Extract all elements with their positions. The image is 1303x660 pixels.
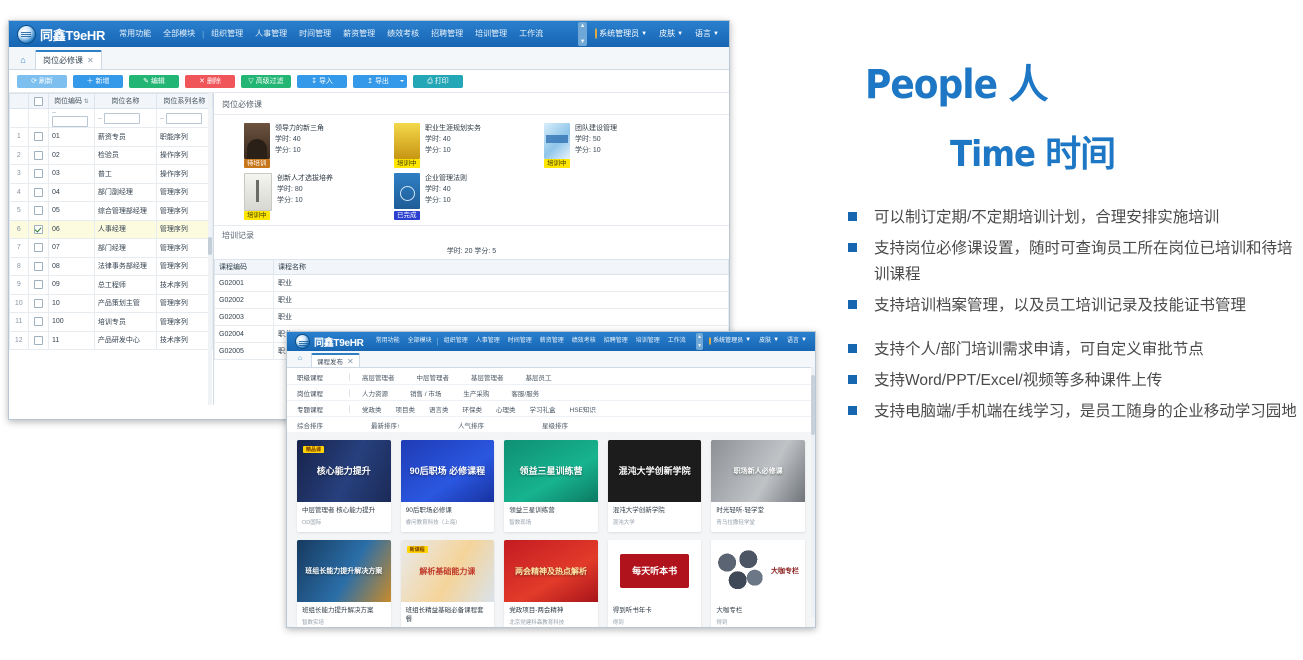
arrow-up-icon: ↑ bbox=[397, 424, 400, 430]
list-item: 支持Word/PPT/Excel/视频等多种课件上传 bbox=[848, 368, 1303, 394]
records-row[interactable]: G02002职业 bbox=[215, 292, 729, 309]
refresh-label: 刷新 bbox=[39, 78, 53, 85]
records-row[interactable]: G02003职业 bbox=[215, 309, 729, 326]
cell-name: 普工 bbox=[94, 165, 156, 184]
course-row: 领导力的新三角 学时: 40 学分: 10 待培训 职业生涯规划实务 bbox=[244, 123, 729, 159]
status-badge: 培训中 bbox=[394, 159, 420, 168]
row-checkbox[interactable] bbox=[34, 151, 43, 160]
filter-cell-series: – bbox=[156, 109, 212, 128]
cell-series: 操作序列 bbox=[156, 165, 212, 184]
filter-input-name[interactable] bbox=[104, 113, 140, 124]
course-title: 职业生涯规划实务 bbox=[425, 123, 481, 134]
course-thumbnail: 新课程 解析基础能力课 bbox=[401, 540, 495, 602]
cell-name: 薪资专员 bbox=[94, 128, 156, 147]
course-hours: 学时: 40 bbox=[425, 184, 467, 195]
table-row[interactable]: 11100培训专员管理序列 bbox=[10, 313, 213, 332]
filter-row-gangwei: 岗位课程 人力资源 销售 / 市场 生产采购 客服/服务 bbox=[287, 385, 815, 401]
filter-cell-code: – bbox=[48, 109, 94, 128]
required-courses-title: 岗位必修课 bbox=[214, 93, 729, 115]
course-catalog-card[interactable]: 混沌大学创新学院 混沌大学创新学院 混沌大学 bbox=[608, 440, 702, 532]
filter-option[interactable]: HSE知识 bbox=[570, 404, 596, 414]
nav-item-3[interactable]: 人事管理 bbox=[472, 332, 504, 351]
thumbnail-text: 核心能力提升 bbox=[297, 440, 391, 502]
bullet-square-icon bbox=[848, 212, 857, 221]
thumbnail-text: 混沌大学创新学院 bbox=[608, 440, 702, 502]
table-row[interactable]: 404部门副经理管理序列 bbox=[10, 183, 213, 202]
cell-code: 100 bbox=[48, 313, 94, 332]
thumbnail-text: 领益三星训练营 bbox=[504, 440, 598, 502]
nav-item-6[interactable]: 绩效考核 bbox=[568, 332, 600, 351]
cell-code: 01 bbox=[48, 128, 94, 147]
brand-title: 同鑫T9eHR bbox=[314, 334, 364, 349]
course-org: 北京党建科森教育科技 bbox=[509, 618, 593, 626]
nav-item-6[interactable]: 绩效考核 bbox=[381, 21, 425, 47]
course-credits: 学分: 10 bbox=[575, 145, 617, 156]
course-title: 企业管理法则 bbox=[425, 173, 467, 184]
filter-label: 专题课程 bbox=[297, 404, 349, 414]
language-menu[interactable]: 语言▼ bbox=[689, 21, 725, 48]
table-row[interactable]: 303普工操作序列 bbox=[10, 165, 213, 184]
records-cell-code: G02001 bbox=[215, 275, 274, 292]
nav-item-8[interactable]: 培训管理 bbox=[632, 332, 664, 351]
import-icon: ↧ bbox=[311, 78, 317, 85]
table-row[interactable]: 808法律事务部经理管理序列 bbox=[10, 257, 213, 276]
sort-arrow-icon: ⇅ bbox=[82, 99, 89, 105]
nav-item-7[interactable]: 招聘管理 bbox=[600, 332, 632, 351]
course-catalog-card[interactable]: 职场新人必修课 时光轻听·轻学堂 青马拉撒轻学堂 bbox=[711, 440, 805, 532]
nav-menu: 常用功能 全部模块 | 组织管理 人事管理 时间管理 薪资管理 绩效考核 招聘管… bbox=[113, 21, 576, 47]
course-org: 得到 bbox=[716, 618, 800, 626]
skin-menu-label: 皮肤 bbox=[759, 338, 771, 344]
nav-item-1[interactable]: 全部模块 bbox=[157, 21, 201, 47]
sort-option-comprehensive[interactable]: 综合排序 bbox=[297, 420, 323, 430]
status-badge: 待培训 bbox=[244, 159, 270, 168]
cell-name: 综合管理部经理 bbox=[94, 202, 156, 221]
course-name: 时光轻听·轻学堂 bbox=[716, 506, 800, 515]
divider bbox=[349, 405, 350, 413]
records-cell-code: G02005 bbox=[215, 343, 274, 360]
course-card[interactable]: 职业生涯规划实务 学时: 40 学分: 10 培训中 bbox=[394, 123, 522, 159]
cell-series: 管理序列 bbox=[156, 294, 212, 313]
filter-icon: ▽ bbox=[248, 78, 253, 85]
course-name: 领益三星训练营 bbox=[509, 506, 593, 515]
records-cell-code: G02002 bbox=[215, 292, 274, 309]
tab-strip: ⌂ 岗位必修课 ✕ bbox=[9, 47, 729, 70]
slide-root: 同鑫T9eHR 常用功能 全部模块 | 组织管理 人事管理 时间管理 薪资管理 … bbox=[0, 0, 1303, 660]
sort-option-newest[interactable]: 最新排序↑ bbox=[371, 420, 400, 430]
training-records-stats: 学时: 20 学分: 5 bbox=[214, 244, 729, 259]
catalog-scrollbar[interactable] bbox=[811, 367, 815, 617]
nav-item-4[interactable]: 时间管理 bbox=[293, 21, 337, 47]
course-thumbnail: 班组长能力提升解决方案 bbox=[297, 540, 391, 602]
cell-series: 管理序列 bbox=[156, 220, 212, 239]
nav-item-9[interactable]: 工作流 bbox=[664, 332, 690, 351]
course-name: 90后职场必修课 bbox=[406, 506, 490, 515]
table-header-row: 岗位编码 ⇅ 岗位名称 岗位系列名称 bbox=[10, 94, 213, 109]
course-name: 得到听书年卡 bbox=[613, 606, 697, 615]
records-row[interactable]: G02001职业 bbox=[215, 275, 729, 292]
course-catalog-card[interactable]: 大咖专栏 大咖专栏 得到 bbox=[711, 540, 805, 628]
table-row[interactable]: 101薪资专员职能序列 bbox=[10, 128, 213, 147]
import-button[interactable]: ↧导入 bbox=[297, 75, 347, 88]
course-title: 团队建设管理 bbox=[575, 123, 617, 134]
bullet-square-icon bbox=[848, 375, 857, 384]
filter-spacer bbox=[10, 109, 29, 128]
filter-option[interactable]: 基层员工 bbox=[526, 372, 552, 382]
sort-option-popularity[interactable]: 人气排序 bbox=[458, 420, 484, 430]
filter-option[interactable]: 学习礼盒 bbox=[530, 404, 556, 414]
filter-option[interactable]: 中层管理者 bbox=[417, 372, 450, 382]
col-header-name[interactable]: 岗位名称 bbox=[94, 94, 156, 109]
select-all-checkbox[interactable] bbox=[34, 97, 43, 106]
skin-menu[interactable]: 皮肤▼ bbox=[755, 332, 783, 351]
nav-item-0[interactable]: 常用功能 bbox=[113, 21, 157, 47]
catalog-filters: 职级课程 高层管理者 中层管理者 基层管理者 基层员工 岗位课程 人力资源 销售… bbox=[287, 368, 815, 432]
course-catalog-card[interactable]: 新课程 解析基础能力课 班组长精益基础必备课程套餐 智数实培 bbox=[401, 540, 495, 628]
course-org: 睿问教育科技（上海） bbox=[406, 518, 490, 526]
import-label: 导入 bbox=[319, 78, 333, 85]
filter-option[interactable]: 客服/服务 bbox=[511, 388, 539, 398]
close-icon: ✕ bbox=[199, 78, 205, 85]
course-card[interactable]: 领导力的新三角 学时: 40 学分: 10 待培训 bbox=[244, 123, 372, 159]
skin-menu[interactable]: 皮肤▼ bbox=[653, 21, 689, 48]
nav-item-5[interactable]: 薪资管理 bbox=[536, 332, 568, 351]
marketing-panel: People 人 Time 时间 可以制订定期/不定期培训计划，合理安排实施培训… bbox=[840, 0, 1303, 660]
training-records-title: 培训记录 bbox=[214, 225, 729, 244]
bullet-square-icon bbox=[848, 406, 857, 415]
cell-series: 技术序列 bbox=[156, 331, 212, 350]
logo-icon bbox=[295, 334, 310, 349]
filter-option[interactable]: 生产采购 bbox=[463, 388, 489, 398]
cell-name: 总工程师 bbox=[94, 276, 156, 295]
table-row[interactable]: 909总工程师技术序列 bbox=[10, 276, 213, 295]
card-info: 混沌大学创新学院 混沌大学 bbox=[608, 502, 702, 532]
nav-scroll-arrows[interactable]: ▲▼ bbox=[696, 333, 703, 350]
col-header-series[interactable]: 岗位系列名称 bbox=[156, 94, 212, 109]
table-row[interactable]: 1010产品策划主管管理序列 bbox=[10, 294, 213, 313]
nav-item-4[interactable]: 时间管理 bbox=[504, 332, 536, 351]
course-thumbnail: 两会精神及热点解析 bbox=[504, 540, 598, 602]
course-meta: 团队建设管理 学时: 50 学分: 10 bbox=[575, 123, 617, 159]
records-col-name: 课程名称 bbox=[274, 260, 729, 275]
list-item: 可以制订定期/不定期培训计划，合理安排实施培训 bbox=[848, 205, 1303, 231]
grid-scrollbar-thumb[interactable] bbox=[208, 237, 212, 255]
course-org: 得到 bbox=[613, 618, 697, 626]
card-info: 班组长能力提升解决方案 智数实培 bbox=[297, 602, 391, 628]
course-meta: 企业管理法则 学时: 40 学分: 10 bbox=[425, 173, 467, 211]
bullet-text: 支持个人/部门培训需求申请，可自定义审批节点 bbox=[874, 337, 1204, 363]
cell-code: 07 bbox=[48, 239, 94, 258]
nav-item-1[interactable]: 全部模块 bbox=[404, 332, 436, 351]
divider bbox=[349, 389, 350, 397]
cell-code: 03 bbox=[48, 165, 94, 184]
nav-item-8[interactable]: 培训管理 bbox=[469, 21, 513, 47]
chevron-down-icon: ▼ bbox=[801, 331, 807, 350]
course-thumbnail: 职场新人必修课 bbox=[711, 440, 805, 502]
records-cell-name: 职业 bbox=[274, 275, 729, 292]
delete-label: 删除 bbox=[207, 78, 221, 85]
filter-option[interactable]: 销售 / 市场 bbox=[410, 388, 441, 398]
row-checkbox[interactable] bbox=[34, 188, 43, 197]
print-icon: ⎙ bbox=[427, 78, 433, 85]
chevron-down-icon: ▼ bbox=[773, 331, 779, 350]
course-cover-image bbox=[394, 123, 420, 159]
course-name: 中层管理者 核心能力提升 bbox=[302, 506, 386, 515]
course-credits: 学分: 10 bbox=[275, 145, 324, 156]
filter-spacer2 bbox=[28, 109, 48, 128]
table-row[interactable]: 707部门经理管理序列 bbox=[10, 239, 213, 258]
thumbnail-text: 解析基础能力课 bbox=[401, 540, 495, 602]
cell-series: 管理序列 bbox=[156, 313, 212, 332]
card-info: 大咖专栏 得到 bbox=[711, 602, 805, 628]
course-name: 大咖专栏 bbox=[716, 606, 800, 615]
course-card[interactable]: 团队建设管理 学时: 50 学分: 10 培训中 bbox=[544, 123, 672, 159]
print-button[interactable]: ⎙打印 bbox=[413, 75, 463, 88]
course-card[interactable]: 企业管理法则 学时: 40 学分: 10 已完成 bbox=[394, 173, 522, 211]
filter-option[interactable]: 心理类 bbox=[496, 404, 516, 414]
filter-dash-icon: – bbox=[160, 115, 164, 122]
catalog-tab-strip: ⌂ 课程发布 ✕ bbox=[287, 351, 815, 368]
row-checkbox[interactable] bbox=[34, 132, 43, 141]
bullet-text: 支持电脑端/手机端在线学习，是员工随身的企业移动学习园地 bbox=[874, 399, 1297, 425]
course-cover-image bbox=[544, 123, 570, 159]
nav-item-5[interactable]: 薪资管理 bbox=[337, 21, 381, 47]
cell-series: 管理序列 bbox=[156, 202, 212, 221]
screenshot-composite: 同鑫T9eHR 常用功能 全部模块 | 组织管理 人事管理 时间管理 薪资管理 … bbox=[8, 20, 730, 420]
card-info: 时光轻听·轻学堂 青马拉撒轻学堂 bbox=[711, 502, 805, 532]
filter-row: – – – bbox=[10, 109, 213, 128]
filter-option[interactable]: 基层管理者 bbox=[471, 372, 504, 382]
cell-series: 技术序列 bbox=[156, 276, 212, 295]
export-icon: ↥ bbox=[367, 78, 373, 85]
filter-option[interactable]: 高层管理者 bbox=[362, 372, 395, 382]
course-thumbnail: 混沌大学创新学院 bbox=[608, 440, 702, 502]
course-thumbnail: 每天听本书 bbox=[608, 540, 702, 602]
home-icon[interactable]: ⌂ bbox=[15, 51, 31, 69]
add-button[interactable]: ＋新增 bbox=[73, 75, 123, 88]
cell-series: 操作序列 bbox=[156, 146, 212, 165]
position-grid-pane: 岗位编码 ⇅ 岗位名称 岗位系列名称 – – – 101薪资专员职能序列 bbox=[9, 93, 214, 405]
course-meta: 职业生涯规划实务 学时: 40 学分: 10 bbox=[425, 123, 481, 159]
filter-option[interactable]: 环保类 bbox=[463, 404, 483, 414]
advanced-filter-button[interactable]: ▽高级过滤 bbox=[241, 75, 291, 88]
card-row: 班组长能力提升解决方案 班组长能力提升解决方案 智数实培 新课程 解析基础能力课 bbox=[297, 540, 805, 628]
position-table: 岗位编码 ⇅ 岗位名称 岗位系列名称 – – – 101薪资专员职能序列 bbox=[9, 93, 213, 350]
course-catalog-card[interactable]: 领益三星训练营 领益三星训练营 智数现场 bbox=[504, 440, 598, 532]
user-menu[interactable]: 系统管理员▼ bbox=[705, 332, 755, 351]
status-badge: 培训中 bbox=[544, 159, 570, 168]
delete-button[interactable]: ✕删除 bbox=[185, 75, 235, 88]
heading-people: People 人 bbox=[865, 52, 1048, 110]
filter-row-zhuanti: 专题课程 党政类 项目类 语言类 环保类 心理类 学习礼盒 HSE知识 bbox=[287, 401, 815, 417]
nav-item-0[interactable]: 常用功能 bbox=[372, 332, 404, 351]
user-icon bbox=[709, 337, 711, 345]
course-title: 领导力的新三角 bbox=[275, 123, 324, 134]
course-catalog-card[interactable]: 精品课 核心能力提升 中层管理者 核心能力提升 OD国际 bbox=[297, 440, 391, 532]
course-hours: 学时: 80 bbox=[277, 184, 333, 195]
filter-input-series[interactable] bbox=[166, 113, 202, 124]
row-checkbox[interactable] bbox=[34, 169, 43, 178]
row-checkbox[interactable] bbox=[34, 206, 43, 215]
edit-button[interactable]: ✎编辑 bbox=[129, 75, 179, 88]
nav-scroll-arrows[interactable]: ▲▼ bbox=[578, 22, 587, 46]
catalog-navbar: 同鑫T9eHR 常用功能 全部模块 | 组织管理 人事管理 时间管理 薪资管理 … bbox=[287, 332, 815, 351]
records-header-row: 课程编码 课程名称 bbox=[215, 260, 729, 275]
user-menu-label: 系统管理员 bbox=[599, 29, 639, 38]
course-credits: 学分: 10 bbox=[425, 145, 481, 156]
course-thumbnail: 90后职场 必修课程 bbox=[401, 440, 495, 502]
filter-row-zhiji: 职级课程 高层管理者 中层管理者 基层管理者 基层员工 bbox=[287, 369, 815, 385]
course-card-grid: 精品课 核心能力提升 中层管理者 核心能力提升 OD国际 90后职场 必修课程 bbox=[287, 432, 815, 628]
thumbnail-text: 90后职场 必修课程 bbox=[401, 440, 495, 502]
bullet-square-icon bbox=[848, 344, 857, 353]
card-info: 中层管理者 核心能力提升 OD国际 bbox=[297, 502, 391, 532]
course-org: 智数实培 bbox=[302, 618, 386, 626]
row-checkbox[interactable] bbox=[34, 336, 43, 345]
row-checkbox-checked[interactable] bbox=[34, 225, 43, 234]
edit-icon: ✎ bbox=[143, 78, 149, 85]
cell-name: 人事经理 bbox=[94, 220, 156, 239]
filter-label: 职级课程 bbox=[297, 372, 349, 382]
course-thumbnail: 领益三星训练营 bbox=[504, 440, 598, 502]
language-menu-label: 语言 bbox=[787, 338, 799, 344]
filter-label: 岗位课程 bbox=[297, 388, 349, 398]
cell-code: 02 bbox=[48, 146, 94, 165]
language-menu[interactable]: 语言▼ bbox=[783, 332, 811, 351]
bullet-text: 支持培训档案管理，以及员工培训记录及技能证书管理 bbox=[874, 293, 1246, 319]
chevron-down-icon: ▼ bbox=[641, 21, 647, 47]
course-cover-image bbox=[244, 123, 270, 159]
catalog-scrollbar-thumb[interactable] bbox=[811, 375, 815, 435]
filter-option[interactable]: 项目类 bbox=[396, 404, 416, 414]
bullet-square-icon bbox=[848, 300, 857, 309]
course-org: 混沌大学 bbox=[613, 518, 697, 526]
filter-cell-name: – bbox=[94, 109, 156, 128]
home-icon[interactable]: ⌂ bbox=[293, 349, 307, 367]
tab-label: 岗位必修课 bbox=[43, 55, 83, 66]
tab-kecheng-fabu[interactable]: 课程发布 ✕ bbox=[311, 353, 360, 367]
bullet-text: 支持岗位必修课设置，随时可查询员工所在岗位已培训和待培训课程 bbox=[874, 236, 1303, 288]
course-card[interactable]: 创新人才选拔培养 学时: 80 学分: 10 培训中 bbox=[244, 173, 372, 211]
nav-item-2[interactable]: 组织管理 bbox=[440, 332, 472, 351]
chevron-down-icon: ▼ bbox=[713, 21, 719, 47]
course-org: 智数实培 bbox=[406, 627, 490, 628]
card-info: 90后职场必修课 睿问教育科技（上海） bbox=[401, 502, 495, 532]
records-cell-code: G02003 bbox=[215, 309, 274, 326]
table-row[interactable]: 505综合管理部经理管理序列 bbox=[10, 202, 213, 221]
cell-series: 职能序列 bbox=[156, 128, 212, 147]
sort-option-rating[interactable]: 星级排序 bbox=[542, 420, 568, 430]
records-cell-name: 职业 bbox=[274, 292, 729, 309]
plus-icon: ＋ bbox=[87, 78, 94, 85]
refresh-button[interactable]: ⟳刷新 bbox=[17, 75, 67, 88]
table-row-selected[interactable]: 606人事经理管理序列 bbox=[10, 220, 213, 239]
row-checkbox[interactable] bbox=[34, 243, 43, 252]
cell-code: 04 bbox=[48, 183, 94, 202]
course-name: 班组长精益基础必备课程套餐 bbox=[406, 606, 490, 624]
row-number-header bbox=[10, 94, 29, 109]
export-button[interactable]: ↥导出 bbox=[353, 75, 407, 88]
row-checkbox[interactable] bbox=[34, 280, 43, 289]
thumbnail-text: 职场新人必修课 bbox=[711, 440, 805, 502]
filter-dash-icon: – bbox=[52, 109, 56, 116]
cell-code: 10 bbox=[48, 294, 94, 313]
divider bbox=[349, 373, 350, 381]
card-info: 党政项目-两会精神 北京党建科森教育科技 bbox=[504, 602, 598, 628]
course-org: 青马拉撒轻学堂 bbox=[716, 518, 800, 526]
records-cell-code: G02004 bbox=[215, 326, 274, 343]
brand: 同鑫T9eHR bbox=[9, 25, 105, 44]
select-all-header[interactable] bbox=[28, 94, 48, 109]
row-checkbox[interactable] bbox=[34, 317, 43, 326]
filter-input-code[interactable] bbox=[52, 116, 88, 127]
filter-option[interactable]: 语言类 bbox=[429, 404, 449, 414]
course-org: OD国际 bbox=[302, 518, 386, 526]
tab-label: 课程发布 bbox=[317, 356, 343, 366]
course-catalog-card[interactable]: 每天听本书 得到听书年卡 得到 bbox=[608, 540, 702, 628]
filter-option[interactable]: 党政类 bbox=[362, 404, 382, 414]
brand-title: 同鑫T9eHR bbox=[40, 25, 105, 44]
records-cell-name: 职业 bbox=[274, 309, 729, 326]
user-menu[interactable]: 系统管理员▼ bbox=[589, 21, 653, 48]
thumbnail-text: 大咖专栏 bbox=[711, 540, 805, 602]
user-menu-label: 系统管理员 bbox=[713, 338, 743, 344]
nav-item-3[interactable]: 人事管理 bbox=[249, 21, 293, 47]
cell-name: 法律事务部经理 bbox=[94, 257, 156, 276]
course-thumbnail: 精品课 核心能力提升 bbox=[297, 440, 391, 502]
records-col-code: 课程编码 bbox=[215, 260, 274, 275]
cell-code: 06 bbox=[48, 220, 94, 239]
course-name: 党政项目-两会精神 bbox=[509, 606, 593, 615]
close-icon[interactable]: ✕ bbox=[347, 357, 354, 366]
nav-menu: 常用功能 全部模块 | 组织管理 人事管理 时间管理 薪资管理 绩效考核 招聘管… bbox=[372, 332, 695, 351]
row-checkbox[interactable] bbox=[34, 299, 43, 308]
nav-item-7[interactable]: 招聘管理 bbox=[425, 21, 469, 47]
course-cover-image bbox=[244, 173, 272, 211]
course-org: 智数现场 bbox=[509, 518, 593, 526]
table-row[interactable]: 1211产品研发中心技术序列 bbox=[10, 331, 213, 350]
col-header-code[interactable]: 岗位编码 ⇅ bbox=[48, 94, 94, 109]
required-courses-list: 领导力的新三角 学时: 40 学分: 10 待培训 职业生涯规划实务 bbox=[214, 115, 729, 211]
course-catalog-card[interactable]: 两会精神及热点解析 党政项目-两会精神 北京党建科森教育科技 bbox=[504, 540, 598, 628]
thumbnail-text: 每天听本书 bbox=[608, 540, 702, 602]
close-icon[interactable]: ✕ bbox=[87, 56, 94, 65]
row-checkbox[interactable] bbox=[34, 262, 43, 271]
filter-label: 高级过滤 bbox=[256, 78, 284, 85]
nav-item-9[interactable]: 工作流 bbox=[513, 21, 549, 47]
status-badge: 已完成 bbox=[394, 211, 420, 220]
filter-dash-icon: – bbox=[98, 115, 102, 122]
cell-code: 05 bbox=[48, 202, 94, 221]
course-catalog-card[interactable]: 班组长能力提升解决方案 班组长能力提升解决方案 智数实培 bbox=[297, 540, 391, 628]
filter-option[interactable]: 人力资源 bbox=[362, 388, 388, 398]
tab-gangwei-bixiuke[interactable]: 岗位必修课 ✕ bbox=[35, 50, 102, 69]
thumbnail-text: 班组长能力提升解决方案 bbox=[297, 540, 391, 602]
sort-row: 综合排序 最新排序↑ 人气排序 星级排序 bbox=[287, 417, 815, 432]
table-row[interactable]: 202检验员操作序列 bbox=[10, 146, 213, 165]
card-row: 精品课 核心能力提升 中层管理者 核心能力提升 OD国际 90后职场 必修课程 bbox=[297, 440, 805, 532]
course-name: 混沌大学创新学院 bbox=[613, 506, 697, 515]
heading-time: Time 时间 bbox=[950, 125, 1115, 177]
course-thumbnail: 大咖专栏 bbox=[711, 540, 805, 602]
course-catalog-card[interactable]: 90后职场 必修课程 90后职场必修课 睿问教育科技（上海） bbox=[401, 440, 495, 532]
course-credits: 学分: 10 bbox=[425, 195, 467, 206]
grid-scrollbar[interactable] bbox=[208, 93, 212, 405]
bullet-square-icon bbox=[848, 243, 857, 252]
bullet-text: 可以制订定期/不定期培训计划，合理安排实施培训 bbox=[874, 205, 1219, 231]
bullet-text: 支持Word/PPT/Excel/视频等多种课件上传 bbox=[874, 368, 1162, 394]
nav-item-2[interactable]: 组织管理 bbox=[205, 21, 249, 47]
